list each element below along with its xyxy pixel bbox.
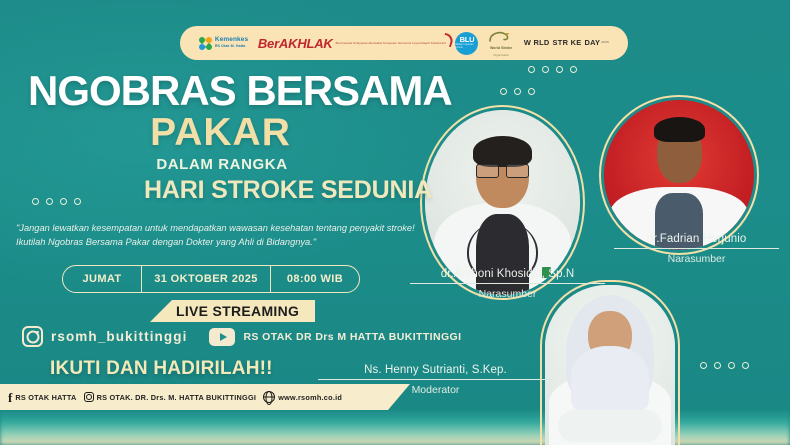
wsd-line3-text: DAY: [584, 39, 600, 47]
blu-logo: BLU Badan Layanan Umum: [455, 32, 478, 55]
nameplate-henny: Ns. Henny Sutrianti, S.Kep. Moderator: [318, 364, 553, 396]
headline-line-4: HARI STROKE SEDUNIA: [28, 176, 508, 205]
call-to-action-text: IKUTI DAN HADIRILAH!!: [50, 358, 273, 380]
wsd-line-1: W RLD: [524, 39, 550, 47]
world-stroke-organization-logo: World Stroke Organization: [488, 30, 514, 57]
headline-line-1: NGOBRAS BERSAMA: [28, 72, 508, 111]
event-poster: Kemenkes RS Otak M. Hatta BerAKHLAK Bero…: [0, 0, 790, 445]
wso-swirl-icon: [488, 30, 514, 43]
wsd-line2-text: STR KE: [553, 39, 582, 47]
quote-text: "Jangan lewatkan kesempatan untuk mendap…: [16, 221, 416, 250]
instagram-icon: [22, 326, 43, 347]
live-streaming-label: LIVE STREAMING: [172, 300, 315, 322]
youtube-icon: [209, 328, 235, 346]
nameplate-anthoni: dr.Anthoni Khosidiq, Sp.N Narasumber: [410, 268, 605, 300]
blu-badge-icon: BLU Badan Layanan Umum: [455, 32, 478, 55]
event-day: JUMAT: [63, 266, 141, 292]
live-streaming-arrow-shape: [150, 300, 172, 322]
wsd-year-text: 2025: [601, 41, 609, 44]
kemenkes-subtitle: RS Otak M. Hatta: [215, 45, 248, 49]
headline-line-3: DALAM RANGKA: [28, 156, 508, 173]
kemenkes-title: Kemenkes: [215, 37, 248, 44]
wsd-line1-text: W RLD: [524, 39, 550, 47]
social-handles: rsomh_bukittinggi RS OTAK DR Drs M HATTA…: [22, 326, 461, 347]
berakhlak-subtitle: Berorientasi Pelayanan Akuntabel Kompete…: [336, 42, 446, 45]
speaker-role-fadrian: Narasumber: [614, 253, 779, 265]
logo-ribbon: Kemenkes RS Otak M. Hatta BerAKHLAK Bero…: [180, 26, 628, 60]
youtube-handle-label: RS OTAK DR Drs M HATTA BUKITTINGGI: [243, 331, 461, 343]
photo-frame-henny: [545, 285, 675, 445]
facebook-icon: f: [8, 391, 12, 404]
moderator-name-henny: Ns. Henny Sutrianti, S.Kep.: [318, 364, 553, 380]
instagram-handle-item[interactable]: rsomh_bukittinggi: [22, 326, 187, 347]
world-stroke-day-logo: W RLD STR KE DAY 2025: [524, 39, 609, 47]
wso-subtitle: Organization: [493, 54, 509, 57]
instagram-handle-label: rsomh_bukittinggi: [51, 329, 187, 344]
wso-title: World Stroke: [490, 47, 512, 51]
speaker-name-anthoni: dr.Anthoni Khosidiq, Sp.N: [410, 268, 605, 284]
footer-facebook-label: RS OTAK HATTA: [15, 393, 76, 402]
photo-frame-fadrian: [604, 100, 754, 250]
blu-subtitle: Badan Layanan Umum: [455, 44, 478, 49]
wsd-line-2: STR KE: [553, 39, 582, 47]
live-streaming-banner: LIVE STREAMING: [150, 300, 315, 322]
berakhlak-title: BerAKHLAK: [258, 37, 333, 50]
kemenkes-logo: Kemenkes RS Otak M. Hatta: [199, 37, 248, 50]
headline-line-2: PAKAR: [28, 113, 508, 152]
kemenkes-mark-icon: [199, 37, 212, 50]
moderator-role-henny: Moderator: [318, 384, 553, 396]
footer-instagram-label: RS OTAK. DR. Drs. M. HATTA BUKITTINGGI: [97, 393, 257, 402]
berakhlak-swoosh-icon: [441, 32, 454, 47]
decorative-dots-left: [32, 198, 81, 205]
footer-instagram-item[interactable]: RS OTAK. DR. Drs. M. HATTA BUKITTINGGI: [84, 392, 257, 402]
berakhlak-logo: BerAKHLAK Berorientasi Pelayanan Akuntab…: [258, 37, 446, 50]
nameplate-fadrian: dr.Fadrian Herjunio Narasumber: [614, 233, 779, 265]
speaker-name-fadrian: dr.Fadrian Herjunio: [614, 233, 779, 249]
footer-facebook-item[interactable]: f RS OTAK HATTA: [8, 391, 77, 404]
headline-block: NGOBRAS BERSAMA PAKAR DALAM RANGKA HARI …: [28, 72, 508, 205]
globe-icon: [263, 391, 275, 403]
moderator-photo-henny: [545, 285, 675, 445]
decorative-dots-mid-right: [500, 88, 535, 95]
decorative-dots-bottom-right: [700, 362, 749, 369]
speaker-photo-fadrian: [604, 100, 754, 250]
event-time: 08:00 WIB: [271, 266, 359, 292]
instagram-icon: [84, 392, 94, 402]
event-date: 31 OKTOBER 2025: [141, 266, 271, 292]
speaker-role-anthoni: Narasumber: [410, 288, 605, 300]
youtube-handle-item[interactable]: RS OTAK DR Drs M HATTA BUKITTINGGI: [209, 328, 461, 346]
event-date-pill: JUMAT 31 OKTOBER 2025 08:00 WIB: [62, 265, 360, 293]
decorative-dots-top-right: [528, 66, 577, 73]
wsd-line-3: DAY 2025: [584, 39, 609, 47]
